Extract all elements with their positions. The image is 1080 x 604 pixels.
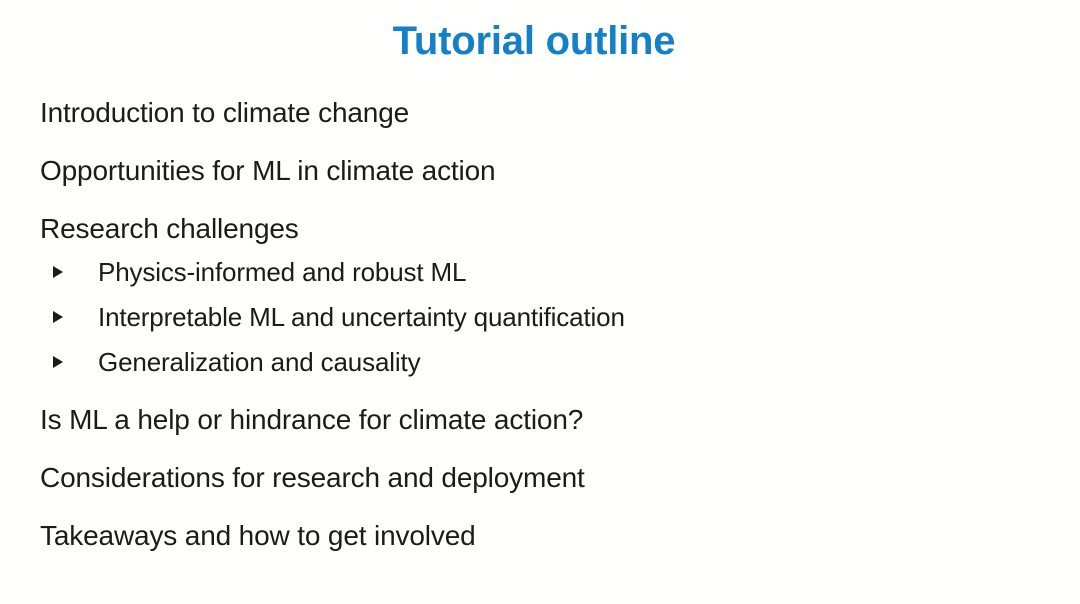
outline-item-label: Research challenges (40, 213, 299, 244)
right-triangle-icon (53, 266, 63, 278)
outline-item-label: Opportunities for ML in climate action (40, 155, 495, 186)
outline-item-label: Considerations for research and deployme… (40, 462, 585, 493)
section-spacer (40, 391, 1060, 403)
outline-item-label: Is ML a help or hindrance for climate ac… (40, 404, 583, 435)
right-triangle-icon (53, 356, 63, 368)
page-title: Tutorial outline (0, 16, 1068, 66)
outline-item-considerations: Considerations for research and deployme… (40, 461, 1060, 495)
outline-item-opportunities: Opportunities for ML in climate action (40, 154, 1060, 188)
outline-list: Introduction to climate change Opportuni… (40, 96, 1060, 577)
outline-item-label: Takeaways and how to get involved (40, 520, 476, 551)
outline-subitem-interpretable-ml: Interpretable ML and uncertainty quantif… (40, 301, 1060, 333)
outline-subitem-generalization: Generalization and causality (40, 346, 1060, 378)
presentation-slide: Tutorial outline Introduction to climate… (0, 0, 1080, 604)
outline-subitem-physics-informed: Physics-informed and robust ML (40, 256, 1060, 288)
outline-subitem-label: Generalization and causality (98, 347, 420, 377)
outline-item-takeaways: Takeaways and how to get involved (40, 519, 1060, 553)
right-triangle-icon (53, 311, 63, 323)
outline-item-research-challenges: Research challenges (40, 212, 1060, 246)
outline-subitem-label: Interpretable ML and uncertainty quantif… (98, 302, 625, 332)
outline-subitem-label: Physics-informed and robust ML (98, 257, 466, 287)
outline-item-intro: Introduction to climate change (40, 96, 1060, 130)
outline-item-label: Introduction to climate change (40, 97, 409, 128)
outline-item-help-or-hindrance: Is ML a help or hindrance for climate ac… (40, 403, 1060, 437)
